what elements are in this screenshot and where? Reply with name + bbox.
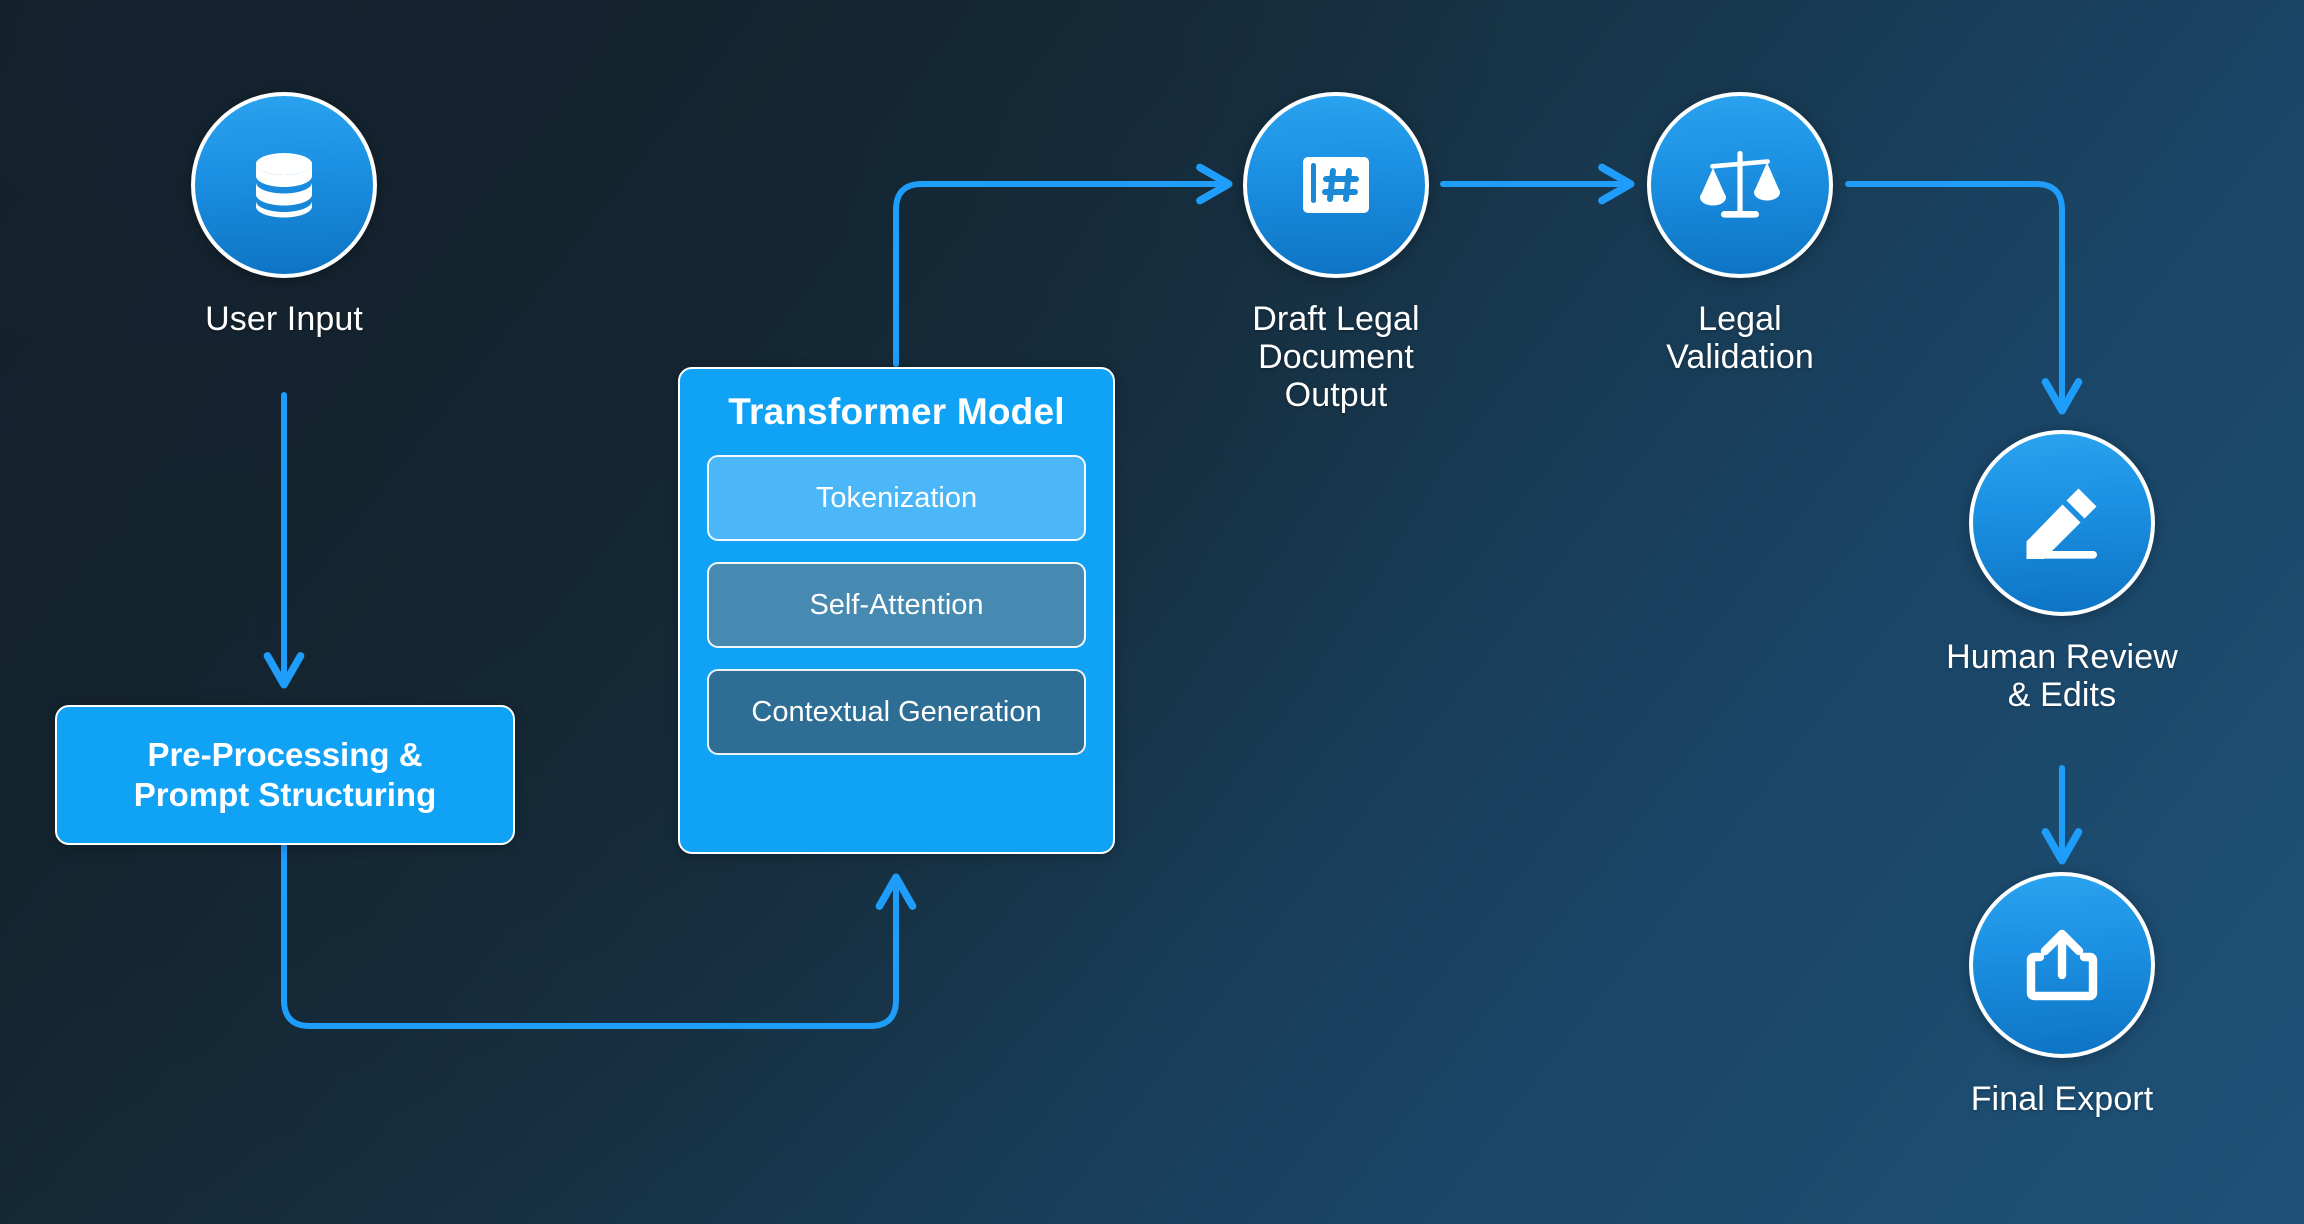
transformer-layer-label: Tokenization xyxy=(816,482,977,515)
node-legal-validation[interactable]: Legal Validation xyxy=(1560,92,1920,376)
legal-validation-circle xyxy=(1647,92,1833,278)
transformer-layer-tokenization[interactable]: Tokenization xyxy=(707,455,1086,541)
node-human-review-edits[interactable]: Human Review & Edits xyxy=(1882,430,2242,714)
diagram-canvas: User Input Pre-Processing & Prompt Struc… xyxy=(0,0,2304,1224)
transformer-layer-self-attention[interactable]: Self-Attention xyxy=(707,562,1086,648)
node-draft-legal-document-output[interactable]: Draft Legal Document Output xyxy=(1156,92,1516,414)
database-icon xyxy=(236,137,332,233)
pencil-edit-icon xyxy=(2014,475,2110,571)
transformer-layer-contextual-generation[interactable]: Contextual Generation xyxy=(707,669,1086,755)
final-export-circle xyxy=(1969,872,2155,1058)
node-user-input[interactable]: User Input xyxy=(104,92,464,338)
human-review-circle xyxy=(1969,430,2155,616)
draft-output-circle xyxy=(1243,92,1429,278)
transformer-title: Transformer Model xyxy=(728,391,1064,433)
final-export-label: Final Export xyxy=(1971,1080,2154,1118)
blueprint-document-icon xyxy=(1286,135,1386,235)
upload-share-icon xyxy=(2014,917,2110,1013)
draft-output-label: Draft Legal Document Output xyxy=(1252,300,1419,414)
scales-of-justice-icon xyxy=(1690,135,1790,235)
legal-validation-label: Legal Validation xyxy=(1666,300,1814,376)
user-input-circle xyxy=(191,92,377,278)
edge-preprocess-to-transformer xyxy=(284,846,896,1026)
node-preprocessing-prompt-structuring[interactable]: Pre-Processing & Prompt Structuring xyxy=(55,705,515,845)
transformer-layer-label: Self-Attention xyxy=(809,589,983,622)
preprocess-label: Pre-Processing & Prompt Structuring xyxy=(134,735,437,816)
transformer-layer-label: Contextual Generation xyxy=(751,696,1041,729)
human-review-label: Human Review & Edits xyxy=(1946,638,2178,714)
node-transformer-model[interactable]: Transformer Model Tokenization Self-Atte… xyxy=(678,367,1115,854)
user-input-label: User Input xyxy=(205,300,363,338)
node-final-export[interactable]: Final Export xyxy=(1882,872,2242,1118)
